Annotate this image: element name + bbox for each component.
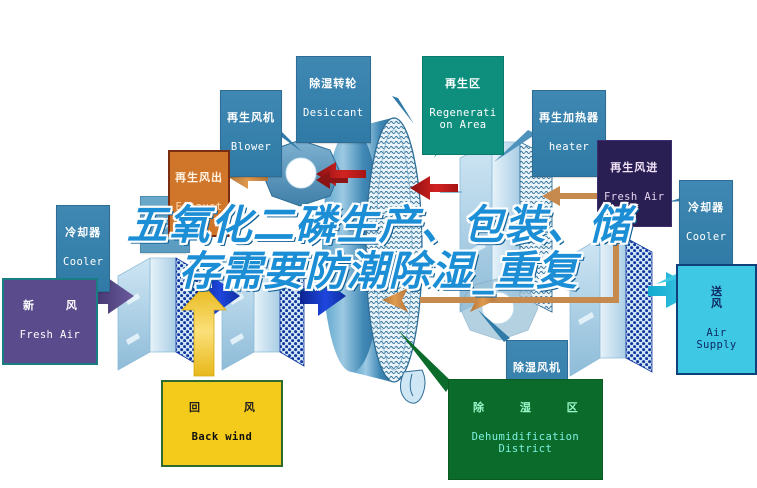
label-dehumidification-district-en: Dehumidification District xyxy=(457,432,594,456)
label-dehumidification-district[interactable]: 除 湿 区 Dehumidification District xyxy=(448,379,603,480)
label-back-wind-en: Back wind xyxy=(169,432,275,444)
label-dehumidification-blower-cn: 除湿风机 xyxy=(513,362,561,374)
label-regeneration-exhaust-en: Exhaust xyxy=(175,202,223,214)
label-regeneration-blower-cn: 再生风机 xyxy=(227,112,275,124)
label-air-supply-en: Air Supply xyxy=(684,328,749,352)
label-regeneration-inlet-en: Fresh Air xyxy=(604,192,665,204)
svg-text:xt: xt xyxy=(372,319,384,333)
label-regeneration-area-cn: 再生区 xyxy=(429,78,497,90)
diagram-canvas: xt xyxy=(0,0,757,488)
label-regeneration-exhaust-cn: 再生风出 xyxy=(175,172,223,184)
label-back-wind-cn: 回 风 xyxy=(169,402,275,414)
label-desiccant-wheel-en: Desiccant xyxy=(303,108,364,120)
label-regeneration-inlet-cn: 再生风进 xyxy=(604,162,665,174)
label-air-supply[interactable]: 送 风 Air Supply xyxy=(676,264,757,375)
label-cooler-left-cn: 冷却器 xyxy=(63,227,103,239)
label-regeneration-heater[interactable]: 再生加热器 heater xyxy=(532,90,606,177)
label-fresh-air-inlet-cn: 新 风 xyxy=(9,300,91,312)
diagram-graphics: xt xyxy=(0,0,757,488)
label-cooler-right-cn: 冷却器 xyxy=(686,202,726,214)
label-dehumidification-district-cn: 除 湿 区 xyxy=(457,402,594,414)
label-regeneration-exhaust[interactable]: 再生风出 Exhaust xyxy=(168,150,230,237)
label-regeneration-heater-en: heater xyxy=(539,142,599,154)
label-cooler-right[interactable]: 冷却器 Cooler xyxy=(679,180,733,267)
label-back-wind[interactable]: 回 风 Back wind xyxy=(161,380,283,467)
label-desiccant-wheel-cn: 除湿转轮 xyxy=(303,78,364,90)
desiccant-rotor: xt xyxy=(322,118,425,403)
label-fresh-air-inlet[interactable]: 新 风 Fresh Air xyxy=(2,278,98,365)
supply-filter-box xyxy=(570,238,652,376)
label-regeneration-inlet[interactable]: 再生风进 Fresh Air xyxy=(597,140,672,227)
label-air-supply-cn: 送 风 xyxy=(684,286,749,311)
label-fresh-air-inlet-en: Fresh Air xyxy=(9,330,91,342)
label-regeneration-blower-en: Blower xyxy=(227,142,275,154)
cooler-coil-left-2 xyxy=(222,258,304,370)
label-desiccant-wheel[interactable]: 除湿转轮 Desiccant xyxy=(296,56,371,143)
label-regeneration-area[interactable]: 再生区 Regenerati on Area xyxy=(422,56,504,155)
label-cooler-left-en: Cooler xyxy=(63,257,103,269)
label-cooler-right-en: Cooler xyxy=(686,232,726,244)
label-regeneration-area-en: Regenerati on Area xyxy=(429,108,497,132)
label-regeneration-heater-cn: 再生加热器 xyxy=(539,112,599,124)
cooler-coil-left-1 xyxy=(118,258,200,370)
